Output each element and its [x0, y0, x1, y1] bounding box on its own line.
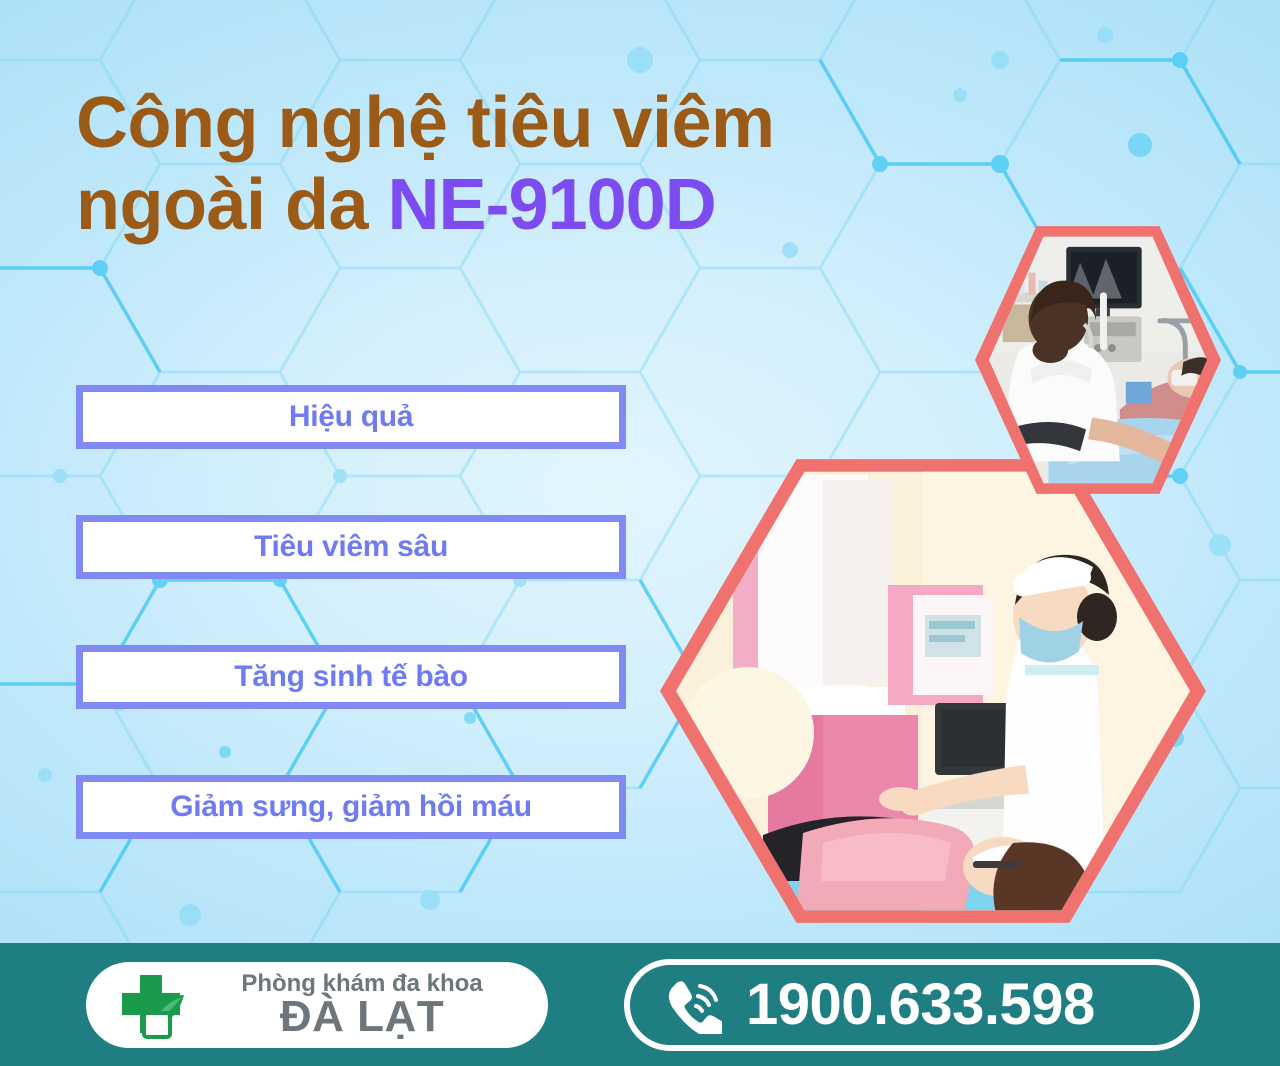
feature-item[interactable]: Tiêu viêm sâu — [76, 515, 626, 579]
feature-label: Giảm sưng, giảm hồi máu — [170, 790, 532, 824]
feature-item[interactable]: Hiệu quả — [76, 385, 626, 449]
hex-image-clip — [676, 465, 1190, 917]
footer-bar: Phòng khám đa khoa ĐÀ LẠT 1900.633.598 — [0, 943, 1280, 1066]
phone-ringing-icon — [664, 976, 722, 1034]
green-cross-leaf-icon — [114, 969, 188, 1041]
clinic-name: ĐÀ LẠT — [280, 995, 444, 1039]
photo-ultrasound-examination — [975, 222, 1221, 498]
clinic-logo-block[interactable]: Phòng khám đa khoa ĐÀ LẠT — [86, 962, 548, 1048]
promo-banner: Công nghệ tiêu viêm ngoài da NE-9100D Hi… — [0, 0, 1280, 1066]
feature-item[interactable]: Giảm sưng, giảm hồi máu — [76, 775, 626, 839]
photo-pink-treatment-machine — [660, 452, 1206, 930]
product-model: NE-9100D — [388, 165, 716, 245]
headline-line-1: Công nghệ tiêu viêm — [76, 86, 1006, 160]
feature-label: Hiệu quả — [289, 400, 413, 434]
headline-line-2: ngoài da NE-9100D — [76, 168, 1006, 242]
feature-list: Hiệu quả Tiêu viêm sâu Tăng sinh tế bào … — [76, 385, 626, 839]
headline: Công nghệ tiêu viêm ngoài da NE-9100D — [76, 86, 1006, 242]
clinic-name-block: Phòng khám đa khoa ĐÀ LẠT — [202, 971, 548, 1039]
hotline-button[interactable]: 1900.633.598 — [624, 959, 1200, 1051]
feature-label: Tiêu viêm sâu — [254, 530, 448, 564]
feature-label: Tăng sinh tế bào — [234, 660, 468, 694]
treatment-room-illustration — [676, 465, 1190, 917]
hotline-number: 1900.633.598 — [746, 976, 1095, 1034]
headline-line-2-prefix: ngoài da — [76, 165, 388, 245]
feature-item[interactable]: Tăng sinh tế bào — [76, 645, 626, 709]
